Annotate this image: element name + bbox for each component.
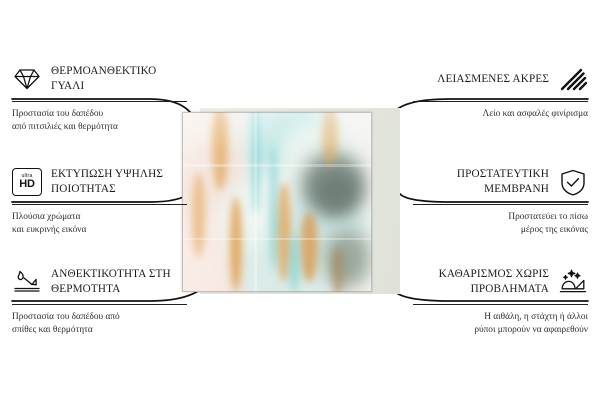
feature-header: ultra HD ΕΚΤΥΠΩΣΗ ΥΨΗΛΗΣ ΠΟΙΟΤΗΤΑΣ (12, 165, 187, 199)
feature-divider (413, 101, 588, 102)
feature-divider (12, 304, 187, 305)
feature-header: ΛΕΙΑΣΜΕΝΕΣ ΑΚΡΕΣ (413, 62, 588, 96)
feature-divider (413, 304, 588, 305)
product-image (182, 112, 397, 292)
feature-header: ΑΝΘΕΚΤΙΚΟΤΗΤΑ ΣΤΗ ΘΕΡΜΟΤΗΤΑ (12, 265, 187, 299)
feature-polished-edges: ΛΕΙΑΣΜΕΝΕΣ ΑΚΡΕΣ Λείο και ασφαλές φινίρι… (413, 62, 588, 121)
feature-title: ΚΑΘΑΡΙΣΜΟΣ ΧΩΡΙΣ ΠΡΟΒΛΗΜΑΤΑ (413, 267, 549, 297)
feature-title: ΑΝΘΕΚΤΙΚΟΤΗΤΑ ΣΤΗ ΘΕΡΜΟΤΗΤΑ (51, 267, 187, 297)
flame-deflect-icon (12, 267, 42, 297)
feature-description: Προστασία του δαπέδου από πιτσιλιές και … (12, 108, 187, 134)
feature-title: ΠΡΟΣΤΑΤΕΥΤΙΚΗ ΜΕΜΒΡΑΝΗ (413, 167, 549, 197)
feature-header: ΠΡΟΣΤΑΤΕΥΤΙΚΗ ΜΕΜΒΡΑΝΗ (413, 165, 588, 199)
feature-description: Πλούσια χρώματα και ευκρινής εικόνα (12, 211, 187, 237)
shield-check-icon (558, 167, 588, 197)
feature-divider (12, 101, 187, 102)
feature-protective-membrane: ΠΡΟΣΤΑΤΕΥΤΙΚΗ ΜΕΜΒΡΑΝΗ Προστατεύει το πί… (413, 165, 588, 237)
feature-header: ΘΕΡΜΟΑΝΘΕΚΤΙΚΟ ΓΥΑΛΙ (12, 62, 187, 96)
ultra-hd-badge-icon: ultra HD (12, 167, 42, 197)
feature-header: ΚΑΘΑΡΙΣΜΟΣ ΧΩΡΙΣ ΠΡΟΒΛΗΜΑΤΑ (413, 265, 588, 299)
feature-divider (12, 204, 187, 205)
feature-heat-durability: ΑΝΘΕΚΤΙΚΟΤΗΤΑ ΣΤΗ ΘΕΡΜΟΤΗΤΑ Προστασία το… (12, 265, 187, 337)
product-feature-infographic: ΘΕΡΜΟΑΝΘΕΚΤΙΚΟ ΓΥΑΛΙ Προστασία του δαπέδ… (0, 0, 600, 400)
feature-title: ΘΕΡΜΟΑΝΘΕΚΤΙΚΟ ΓΥΑΛΙ (51, 64, 187, 94)
feature-description: Η αιθάλη, η στάχτη ή άλλοι ρύποι μπορούν… (413, 311, 588, 337)
sparkle-wipe-icon (558, 267, 588, 297)
feature-description: Προστατεύει το πίσω μέρος της εικόνας (413, 211, 588, 237)
feature-high-quality-print: ultra HD ΕΚΤΥΠΩΣΗ ΥΨΗΛΗΣ ΠΟΙΟΤΗΤΑΣ Πλούσ… (12, 165, 187, 237)
diamond-icon (12, 64, 42, 94)
ultra-hd-large-text: HD (19, 179, 35, 190)
feature-title: ΛΕΙΑΣΜΕΝΕΣ ΑΚΡΕΣ (413, 72, 549, 87)
feature-divider (413, 204, 588, 205)
diagonal-lines-icon (558, 64, 588, 94)
feature-title: ΕΚΤΥΠΩΣΗ ΥΨΗΛΗΣ ΠΟΙΟΤΗΤΑΣ (51, 167, 187, 197)
product-front-panel (182, 112, 372, 292)
feature-easy-cleaning: ΚΑΘΑΡΙΣΜΟΣ ΧΩΡΙΣ ΠΡΟΒΛΗΜΑΤΑ Η αιθάλη, η … (413, 265, 588, 337)
feature-description: Προστασία του δαπέδου από σπίθες και θερ… (12, 311, 187, 337)
feature-heat-resistant-glass: ΘΕΡΜΟΑΝΘΕΚΤΙΚΟ ΓΥΑΛΙ Προστασία του δαπέδ… (12, 62, 187, 134)
feature-description: Λείο και ασφαλές φινίρισμα (413, 108, 588, 121)
